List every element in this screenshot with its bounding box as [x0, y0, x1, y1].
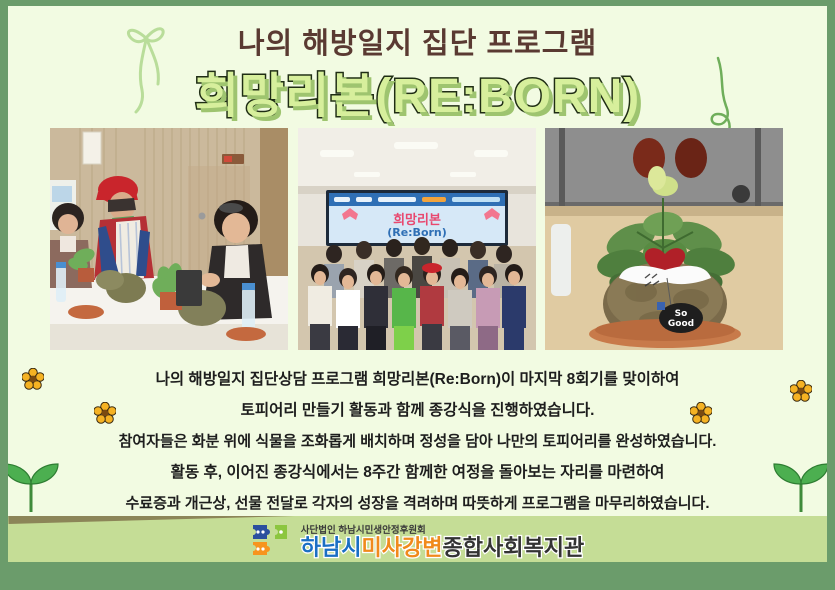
flower-icon-right-1 — [790, 380, 812, 402]
logo-text-group: 사단법인 하남시민생안정후원회 하남시미사강변종합사회복지관 — [301, 522, 584, 559]
flower-icon-right-2 — [690, 402, 712, 424]
org-title-part1: 하남시 — [301, 535, 362, 560]
poster-main-title: 희망리본(RE:BORN) — [8, 56, 827, 126]
photo-group-ceremony: 희망리본 (Re:Born) — [298, 128, 536, 350]
body-line-3: 참여자들은 화분 위에 식물을 조화롭게 배치하며 정성을 담아 나만의 토피어… — [8, 426, 827, 457]
sprout-icon-right — [772, 456, 827, 512]
photo-workshop-table — [50, 128, 288, 350]
org-subtitle: 사단법인 하남시민생안정후원회 — [301, 522, 584, 536]
sprout-icon-left — [8, 456, 60, 512]
body-line-4: 활동 후, 이어진 종강식에서는 8주간 함께한 여정을 돌아보는 자리를 마련… — [8, 457, 827, 488]
photo-finished-topiary: So Good — [545, 128, 783, 350]
photo-row: 희망리본 (Re:Born) — [8, 128, 827, 356]
body-line-5: 수료증과 개근상, 선물 전달로 각자의 성장을 격려하며 따뜻하게 프로그램을… — [8, 488, 827, 519]
organization-logo: 사단법인 하남시민생안정후원회 하남시미사강변종합사회복지관 — [8, 518, 827, 562]
flower-icon-left-1 — [22, 368, 44, 390]
org-title-part3: 종합사회복지관 — [443, 535, 585, 560]
org-title-part2: 미사강변 — [362, 535, 443, 560]
svg-text:So: So — [675, 309, 688, 319]
poster-root: 나의 해방일지 집단 프로그램 희망리본(RE:BORN) — [0, 0, 835, 590]
footer-band: 사단법인 하남시민생안정후원회 하남시미사강변종합사회복지관 — [8, 516, 827, 562]
flower-icon-left-2 — [94, 402, 116, 424]
title-area: 나의 해방일지 집단 프로그램 희망리본(RE:BORN) — [8, 6, 827, 124]
org-title: 하남시미사강변종합사회복지관 — [301, 537, 584, 559]
body-text-block: 나의 해방일지 집단상담 프로그램 희망리본(Re:Born)이 마지막 8회기… — [8, 364, 827, 524]
svg-text:Good: Good — [668, 319, 694, 329]
svg-text:(Re:Born): (Re:Born) — [387, 226, 447, 239]
body-line-1: 나의 해방일지 집단상담 프로그램 희망리본(Re:Born)이 마지막 8회기… — [8, 364, 827, 395]
poster-canvas: 나의 해방일지 집단 프로그램 희망리본(RE:BORN) — [8, 6, 827, 562]
puzzle-logo-icon — [251, 523, 293, 557]
